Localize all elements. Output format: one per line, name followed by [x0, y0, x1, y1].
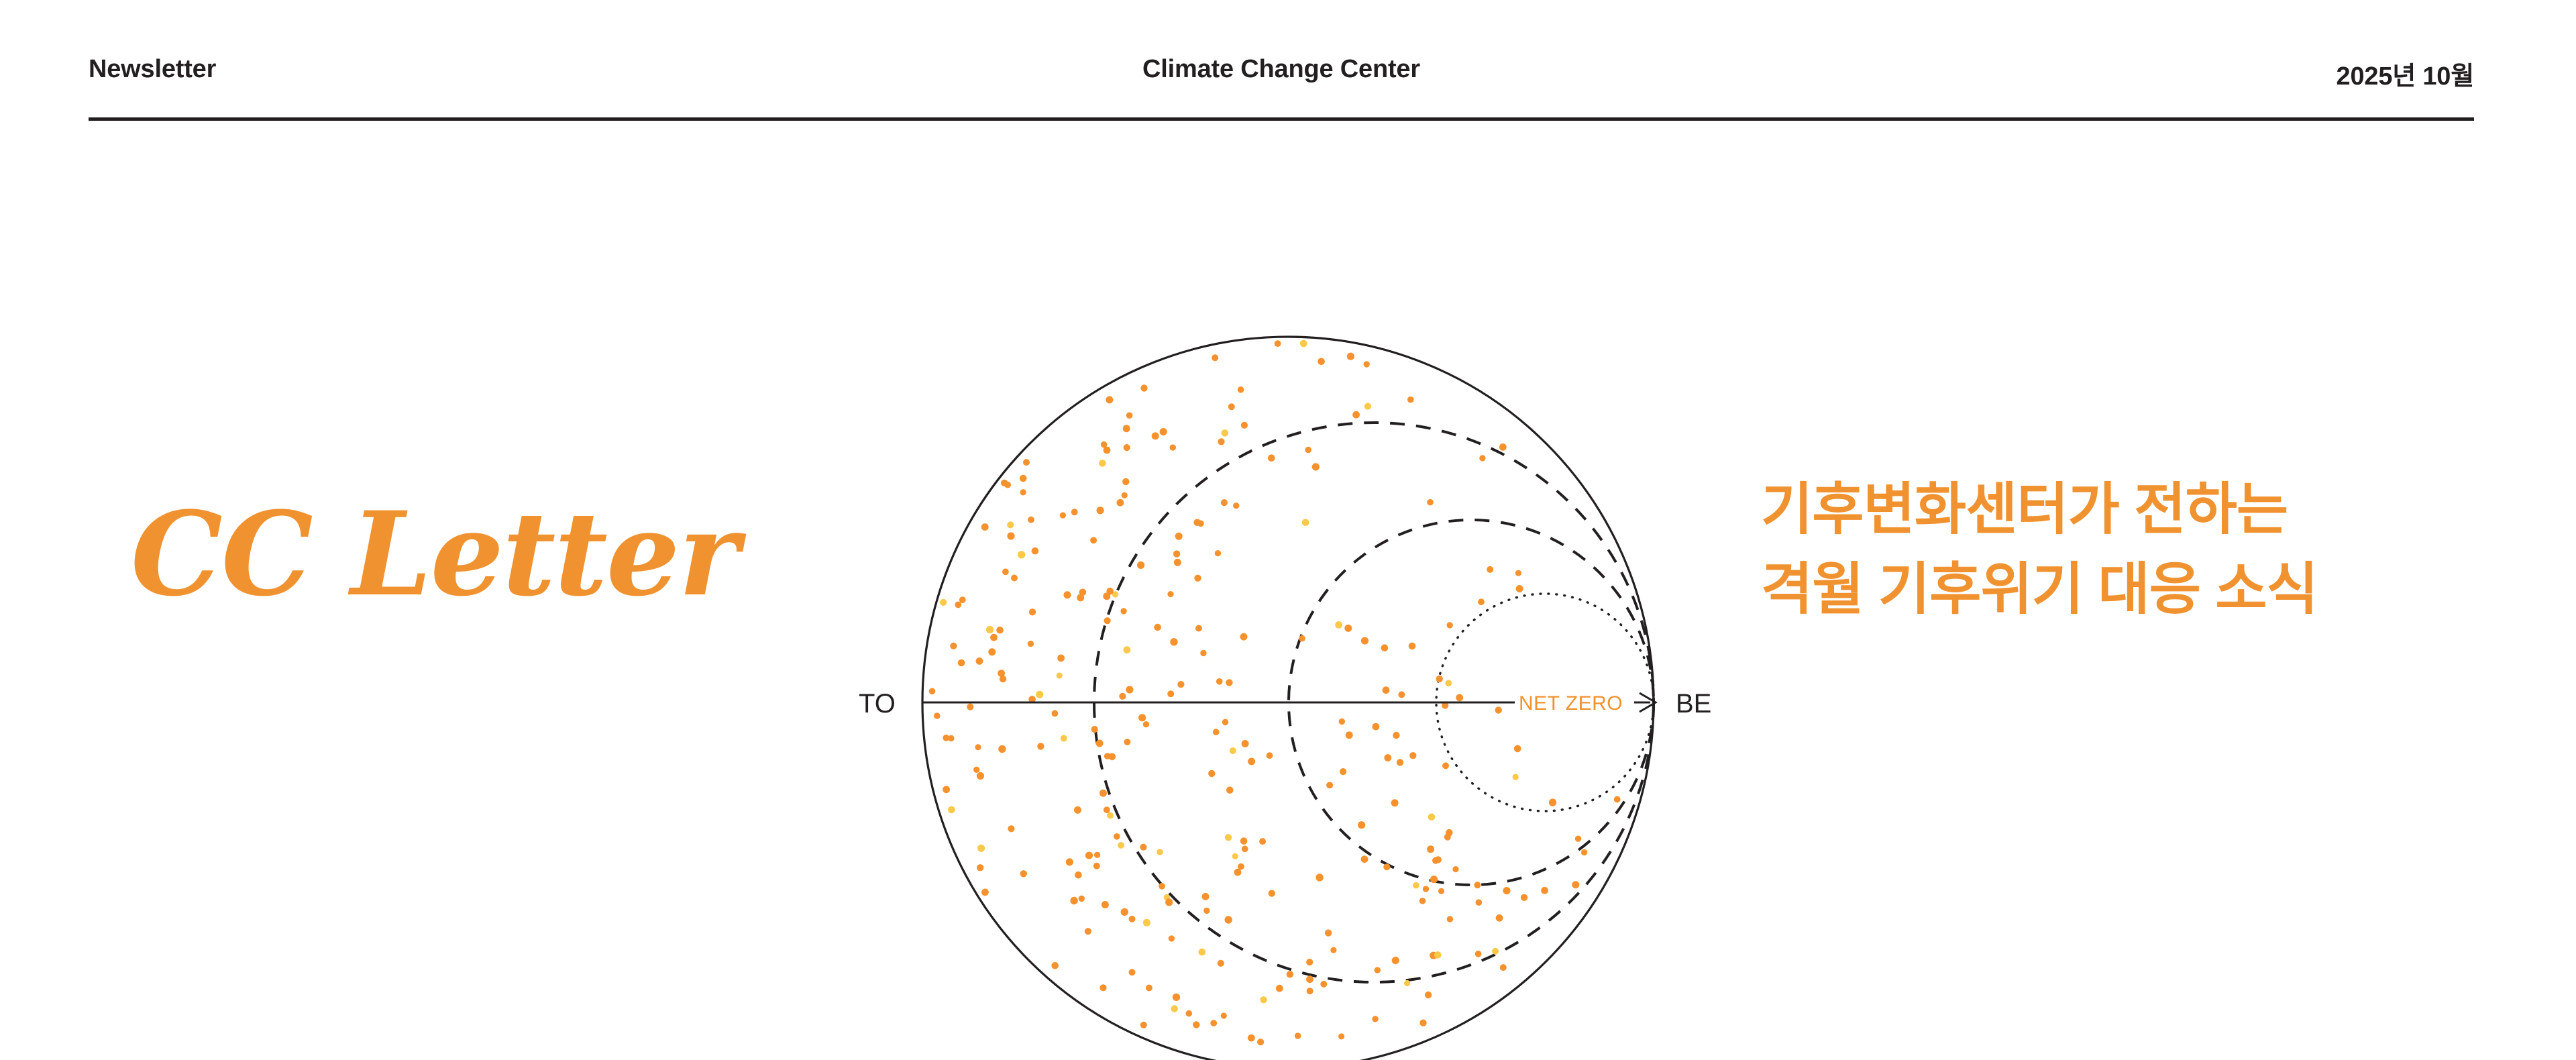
scatter-dot: [1513, 774, 1519, 780]
scatter-dot: [1452, 866, 1458, 872]
scatter-dot: [1152, 432, 1159, 439]
hero-section: CC Letter 기후변화센터가 전하는 격월 기후위기 대응 소식 TO N…: [0, 121, 2576, 1013]
scatter-dot: [1124, 646, 1131, 653]
to-label: TO: [859, 689, 896, 719]
scatter-dot: [1361, 637, 1368, 645]
scatter-dot: [1346, 731, 1353, 739]
scatter-dot: [1295, 1032, 1301, 1039]
scatter-dot: [1061, 735, 1067, 742]
scatter-dot: [1075, 871, 1082, 879]
scatter-dot: [1118, 842, 1124, 849]
scatter-dot: [1051, 962, 1059, 969]
scatter-dot: [1028, 641, 1034, 647]
scatter-dot: [1126, 412, 1133, 419]
scatter-dot: [1325, 929, 1332, 936]
scatter-dot: [977, 845, 985, 852]
scatter-dot: [1091, 726, 1098, 733]
scatter-dot: [1169, 935, 1175, 941]
scatter-dot: [1306, 975, 1313, 983]
scatter-dot: [1409, 643, 1416, 650]
scatter-dot: [1496, 914, 1503, 922]
scatter-dot: [1171, 1005, 1178, 1012]
scatter-dot: [1427, 845, 1434, 853]
scatter-dot: [1381, 644, 1389, 651]
scatter-dot: [1057, 672, 1063, 678]
scatter-dot: [1233, 502, 1239, 509]
scatter-dot: [950, 643, 957, 649]
scatter-dot: [1397, 759, 1403, 765]
scatter-dot: [1140, 844, 1146, 851]
scatter-dot: [1248, 1035, 1255, 1042]
scatter-dot: [1516, 585, 1523, 592]
scatter-dot: [1398, 691, 1405, 698]
scatter-dot: [975, 744, 981, 750]
scatter-dot: [1063, 591, 1071, 598]
scatter-dot: [1008, 825, 1014, 832]
scatter-dot: [1503, 887, 1510, 894]
scatter-dot: [1070, 897, 1077, 904]
scatter-dot: [1193, 1021, 1199, 1028]
scatter-dot: [976, 657, 983, 665]
scatter-dot: [1129, 916, 1136, 922]
scatter-dot: [1495, 706, 1502, 713]
scatter-dot: [1344, 625, 1352, 632]
scatter-dot: [1143, 919, 1150, 926]
scatter-dot: [1020, 475, 1027, 482]
scatter-dot: [1218, 960, 1224, 967]
scatter-dot: [1057, 655, 1065, 662]
scatter-dot: [1257, 1039, 1264, 1045]
scatter-dot: [1175, 533, 1183, 540]
scatter-dot: [1060, 513, 1066, 519]
scatter-dot: [1361, 855, 1368, 863]
scatter-dot: [1302, 519, 1309, 526]
scatter-dot: [1242, 845, 1248, 852]
scatter-dot: [1435, 856, 1442, 863]
scatter-dot: [1200, 650, 1206, 656]
scatter-dot: [1007, 521, 1014, 528]
scatter-dot: [1157, 849, 1163, 855]
scatter-dot: [1248, 758, 1255, 765]
scatter-dot: [1104, 806, 1110, 813]
scatter-dot: [1102, 901, 1109, 908]
scatter-dot: [1419, 1020, 1426, 1026]
scatter-dot: [1375, 967, 1381, 973]
scatter-dot: [1364, 403, 1371, 410]
scatter-dot: [1287, 971, 1293, 977]
scatter-dot: [1085, 852, 1093, 859]
scatter-dot: [1225, 916, 1232, 923]
cc-letter-logotype: CC Letter: [131, 496, 842, 612]
scatter-dot: [1194, 575, 1201, 582]
scatter-dot: [1114, 833, 1120, 840]
scatter-dot: [1177, 681, 1184, 688]
scatter-dot: [1094, 852, 1100, 858]
scatter-dot: [1218, 438, 1224, 445]
scatter-dot: [948, 806, 955, 814]
scatter-dot: [1572, 881, 1579, 888]
scatter-dot: [1104, 617, 1111, 624]
scatter-dot: [1434, 951, 1442, 959]
scatter-dot: [1099, 460, 1106, 467]
scatter-dot: [1117, 499, 1124, 507]
scatter-dot: [1159, 883, 1165, 890]
scatter-dot: [1170, 638, 1177, 645]
scatter-dot: [1106, 588, 1114, 595]
scatter-dot: [1521, 894, 1527, 901]
scatter-dot: [1347, 353, 1354, 360]
scatter-dot: [1339, 719, 1345, 725]
scatter-dot: [1425, 992, 1432, 998]
scatter-dot: [1318, 358, 1325, 366]
scatter-dot: [1119, 693, 1126, 700]
scatter-dot: [1428, 814, 1436, 821]
scatter-dot: [1478, 598, 1485, 605]
scatter-dot: [1020, 489, 1026, 495]
scatter-dot: [1268, 454, 1275, 462]
scatter-dot: [1340, 768, 1346, 775]
scatter-dot: [1575, 836, 1581, 842]
scatter-dot: [1312, 463, 1320, 470]
scatter-dot: [1174, 559, 1181, 566]
scatter-dot: [1391, 799, 1399, 806]
scatter-dot: [967, 704, 973, 710]
scatter-dot: [986, 626, 994, 633]
scatter-dot: [1326, 782, 1333, 788]
scatter-dot: [1479, 455, 1485, 461]
scatter-dot: [1499, 443, 1507, 451]
scatter-dot: [1071, 509, 1078, 515]
scatter-dot: [1442, 762, 1449, 769]
tagline-line-1: 기후변화센터가 전하는: [1761, 470, 2499, 549]
scatter-dot: [1099, 984, 1106, 991]
scatter-dot: [1500, 964, 1507, 971]
be-label: BE: [1676, 689, 1711, 719]
scatter-dot: [1456, 694, 1463, 702]
scatter-dot: [1222, 719, 1229, 726]
scatter-dot: [1444, 834, 1451, 841]
scatter-dot: [1215, 550, 1221, 556]
scatter-dot: [958, 659, 965, 667]
scatter-dot: [943, 786, 950, 793]
scatter-dot: [1409, 752, 1416, 759]
scatter-dot: [1121, 908, 1128, 916]
scatter-dot: [1079, 589, 1087, 596]
scatter-dot: [1097, 507, 1104, 514]
scatter-dot: [1515, 570, 1521, 576]
scatter-dot: [1222, 429, 1229, 437]
scatter-dot: [1020, 870, 1027, 877]
scatter-dot: [1260, 996, 1267, 1003]
scatter-dot: [1079, 896, 1085, 902]
scatter-dot: [1241, 422, 1248, 429]
scatter-dot: [1226, 679, 1232, 686]
scatter-dot: [1104, 753, 1111, 759]
scatter-dot: [1210, 1020, 1217, 1026]
scatter-dot: [1581, 849, 1587, 855]
scatter-dot: [1120, 608, 1126, 614]
scatter-dot: [1430, 876, 1438, 883]
scatter-dot: [1170, 444, 1176, 450]
scatter-dot: [1203, 908, 1210, 914]
scatter-dot: [1129, 969, 1136, 975]
scatter-dot: [1238, 386, 1244, 393]
scatter-dot: [1001, 480, 1008, 486]
scatter-dot: [1032, 547, 1039, 555]
scatter-dot: [1028, 517, 1034, 523]
scatter-dot: [1029, 608, 1036, 615]
tagline-line-2: 격월 기후위기 대응 소식: [1761, 549, 2499, 629]
net-zero-diagram: TO NET ZERO BE: [832, 188, 1758, 1060]
scatter-dot: [973, 767, 979, 773]
scatter-dot: [1407, 396, 1414, 403]
scatter-dot: [1143, 721, 1149, 727]
scatter-dot: [1173, 994, 1180, 1001]
scatter-dot: [1202, 893, 1210, 900]
scatter-dot: [1338, 1033, 1344, 1039]
scatter-dot: [1011, 575, 1018, 582]
scatter-dot: [1305, 447, 1311, 454]
scatter-dot: [1476, 899, 1483, 906]
scatter-dot: [1167, 591, 1173, 597]
scatter-dot: [1447, 622, 1453, 628]
scatter-dot: [1299, 635, 1305, 642]
scatter-dot: [1242, 740, 1249, 747]
scatter-dot: [934, 712, 941, 719]
scatter-dot: [1107, 812, 1114, 819]
scatter-dot: [981, 523, 989, 531]
scatter-dot: [990, 634, 998, 641]
scatter-dot: [998, 745, 1006, 753]
masthead: Newsletter Climate Change Center 2025년 1…: [89, 47, 2474, 121]
scatter-dot: [1212, 354, 1218, 361]
scatter-dot: [1085, 928, 1091, 935]
scatter-dot: [1140, 384, 1147, 391]
scatter-dot: [1226, 786, 1234, 794]
scatter-dot: [1330, 947, 1336, 953]
scatter-dot: [1364, 361, 1370, 367]
scatter-dot: [988, 648, 996, 655]
scatter-dot: [959, 596, 966, 603]
scatter-dot: [1549, 798, 1556, 806]
scatter-dot: [1090, 537, 1097, 543]
scatter-dot: [1335, 621, 1342, 629]
scatter-dot: [1146, 985, 1152, 992]
scatter-dot: [1122, 478, 1129, 485]
scatter-dot: [1137, 562, 1144, 569]
scatter-dot: [1123, 425, 1130, 432]
scatter-dot: [1384, 754, 1391, 761]
scatter-dot: [1514, 745, 1521, 753]
scatter-dot: [1052, 710, 1059, 717]
scatter-dot: [1487, 566, 1493, 573]
scatter-dot: [1066, 858, 1073, 865]
scatter-dot: [1267, 752, 1273, 759]
scatter-dot: [1140, 1022, 1147, 1028]
scatter-dot: [1101, 441, 1108, 448]
net-zero-label: NET ZERO: [1519, 692, 1623, 714]
scatter-dot: [1154, 624, 1161, 631]
scatter-dot: [1393, 732, 1399, 739]
scatter-dot: [1413, 882, 1419, 889]
scatter-dot: [1383, 686, 1390, 694]
scatter-dot: [1096, 740, 1104, 747]
scatter-dot: [955, 602, 961, 608]
scatter-dot: [1320, 981, 1327, 988]
scatter-dot: [1002, 568, 1009, 575]
scatter-dot: [1419, 898, 1426, 904]
scatter-dot: [1474, 882, 1481, 888]
scatter-dot: [1234, 869, 1242, 876]
scatter-dot: [1307, 988, 1313, 994]
scatter-dot: [1124, 739, 1130, 745]
scatter-dot: [1167, 690, 1174, 697]
scatter-dot: [1240, 837, 1248, 845]
masthead-center-title: Climate Change Center: [1142, 55, 1420, 84]
scatter-dot: [1275, 340, 1281, 347]
scatter-dot: [1475, 951, 1482, 957]
scatter-dot: [1074, 806, 1081, 814]
scatter-dot: [1126, 686, 1133, 693]
scatter-dot: [1099, 790, 1107, 797]
scatter-dot: [1423, 886, 1429, 892]
scatter-dot: [977, 772, 984, 780]
scatter-dot: [1306, 959, 1313, 965]
scatter-dot: [1232, 853, 1238, 859]
scatter-dot: [1392, 957, 1399, 964]
scatter-dot: [1300, 340, 1307, 348]
scatter-dot: [1492, 948, 1499, 955]
scatter-dot: [1383, 863, 1390, 870]
scatter-dot: [1216, 678, 1223, 685]
scatter-dot: [1138, 714, 1146, 721]
scatter-dot: [1276, 985, 1283, 992]
scatter-dot: [1373, 723, 1380, 731]
scatter-dot: [1173, 550, 1180, 557]
scatter-dot: [1446, 680, 1452, 687]
scatter-dot: [1023, 459, 1030, 466]
scatter-dot: [1438, 888, 1444, 894]
scatter-dot: [1372, 1016, 1378, 1022]
scatter-dot: [1541, 887, 1548, 894]
scatter-dot: [1106, 396, 1113, 403]
scatter-dot: [1018, 551, 1025, 558]
scatter-dot: [1037, 743, 1044, 749]
scatter-dot: [981, 889, 989, 896]
scatter-dot: [1269, 890, 1275, 896]
scatter-dot: [1240, 633, 1248, 641]
scatter-dot: [1195, 625, 1202, 632]
scatter-dot: [1165, 898, 1173, 906]
scatter-dot: [1404, 980, 1410, 986]
scatter-dot: [1208, 770, 1215, 777]
scatter-dot: [1186, 1010, 1193, 1017]
scatter-dot: [1358, 821, 1365, 829]
scatter-dot: [1316, 873, 1323, 881]
scatter-dot: [1197, 520, 1204, 527]
scatter-dot: [1436, 676, 1443, 682]
masthead-left-label: Newsletter: [89, 55, 216, 84]
scatter-dot: [1160, 428, 1167, 435]
scatter-dot: [998, 670, 1005, 677]
scatter-dot: [996, 627, 1004, 634]
scatter-dot: [1007, 532, 1014, 539]
scatter-dot: [940, 599, 947, 606]
scatter-dot: [1221, 1012, 1227, 1018]
scatter-dot: [1199, 949, 1206, 956]
scatter-dot: [1213, 729, 1220, 735]
scatter-dot: [1124, 444, 1130, 451]
scatter-dot: [1614, 796, 1621, 803]
scatter-dot: [1221, 499, 1228, 506]
masthead-issue-date: 2025년 10월: [2337, 55, 2474, 92]
scatter-dot: [1122, 492, 1128, 498]
scatter-dot: [1230, 747, 1236, 754]
scatter-dot: [977, 864, 983, 871]
scatter-dot: [948, 735, 954, 741]
tagline: 기후변화센터가 전하는 격월 기후위기 대응 소식: [1761, 470, 2499, 630]
scatter-dot: [1093, 863, 1100, 869]
scatter-dot: [1036, 691, 1043, 698]
scatter-dot: [1225, 834, 1232, 841]
scatter-dot: [1228, 403, 1235, 410]
scatter-dot: [1259, 838, 1266, 845]
scatter-dot: [1447, 916, 1453, 922]
scatter-dot: [1427, 499, 1434, 506]
scatter-dot: [929, 688, 936, 695]
scatter-dot: [1352, 411, 1360, 419]
